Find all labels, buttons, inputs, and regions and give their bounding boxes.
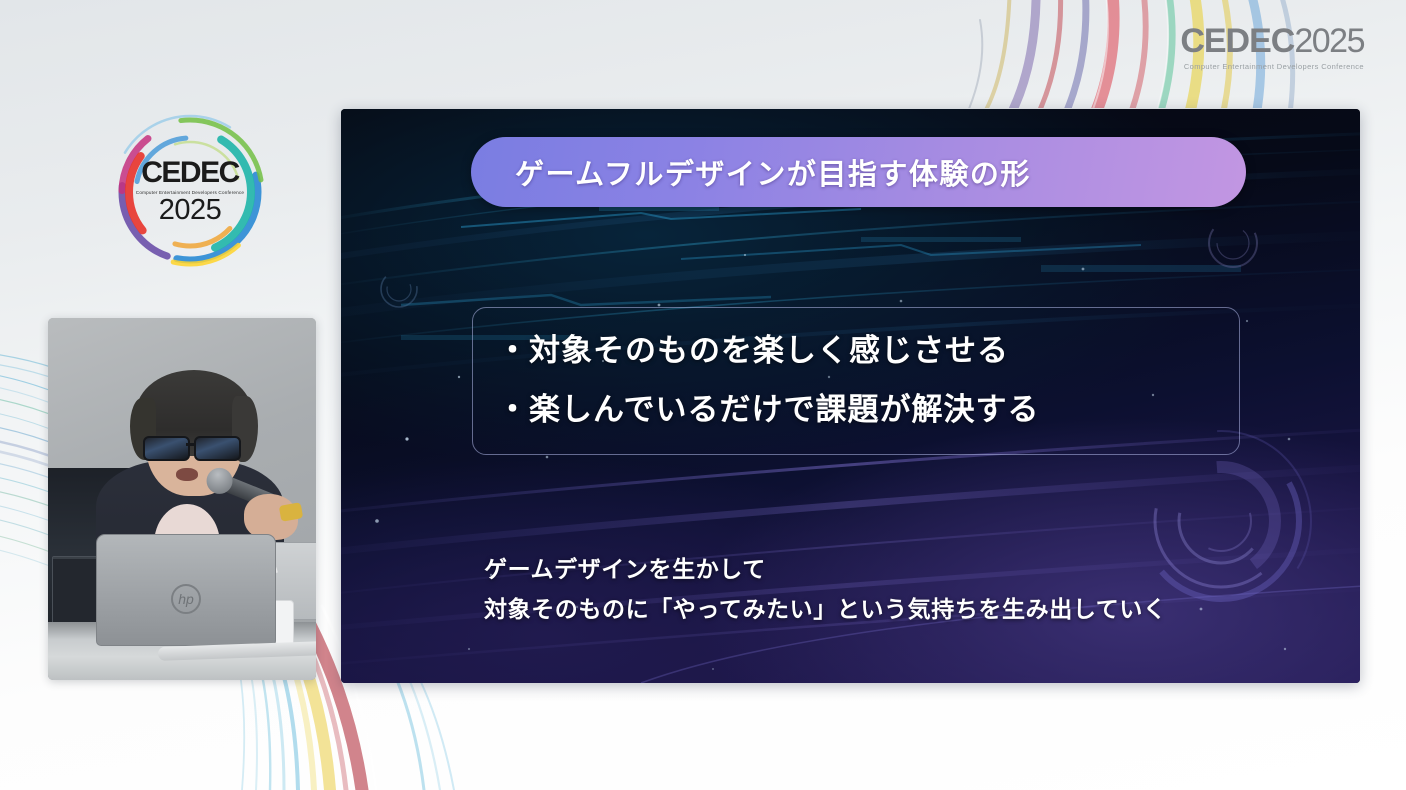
presentation-slide[interactable]: ゲームフルデザインが目指す体験の形 ・対象そのものを楽しく感じさせる ・楽しんで…	[341, 109, 1360, 683]
ring-logo-year: 2025	[159, 196, 222, 225]
cedec-logo-top-right: CEDEC2025 Computer Entertainment Develop…	[1180, 24, 1364, 71]
hp-laptop: hp	[96, 534, 276, 646]
slide-bullet-box: ・対象そのものを楽しく感じさせる ・楽しんでいるだけで課題が解決する	[472, 307, 1240, 455]
cedec-wordmark-text: CEDEC	[1180, 22, 1294, 60]
bottom-line-1: ゲームデザインを生かして	[484, 549, 1304, 589]
bullet-item-2: ・楽しんでいるだけで課題が解決する	[497, 381, 1239, 440]
bullet-item-1: ・対象そのものを楽しく感じさせる	[497, 322, 1239, 381]
speaker-camera-feed[interactable]: hp	[48, 318, 316, 680]
speaker-mouth	[176, 468, 198, 481]
bottom-line-2: 対象そのものに「やってみたい」という気持ちを生み出していく	[484, 589, 1304, 629]
cedec-year-text: 2025	[1294, 22, 1364, 60]
speaker-sunglasses-icon	[143, 436, 241, 457]
cedec-ring-logo: CEDEC Computer Entertainment Developers …	[110, 112, 270, 272]
screen: CEDEC2025 Computer Entertainment Develop…	[0, 0, 1406, 790]
ring-logo-wordmark: CEDEC	[141, 159, 239, 188]
slide-title-banner: ゲームフルデザインが目指す体験の形	[471, 137, 1246, 207]
slide-title-text: ゲームフルデザインが目指す体験の形	[515, 151, 1031, 193]
cedec-wordmark: CEDEC2025	[1180, 24, 1364, 58]
hp-logo-icon: hp	[171, 584, 201, 614]
cedec-tagline: Computer Entertainment Developers Confer…	[1180, 62, 1364, 71]
slide-bottom-paragraph: ゲームデザインを生かして 対象そのものに「やってみたい」という気持ちを生み出して…	[484, 549, 1304, 630]
